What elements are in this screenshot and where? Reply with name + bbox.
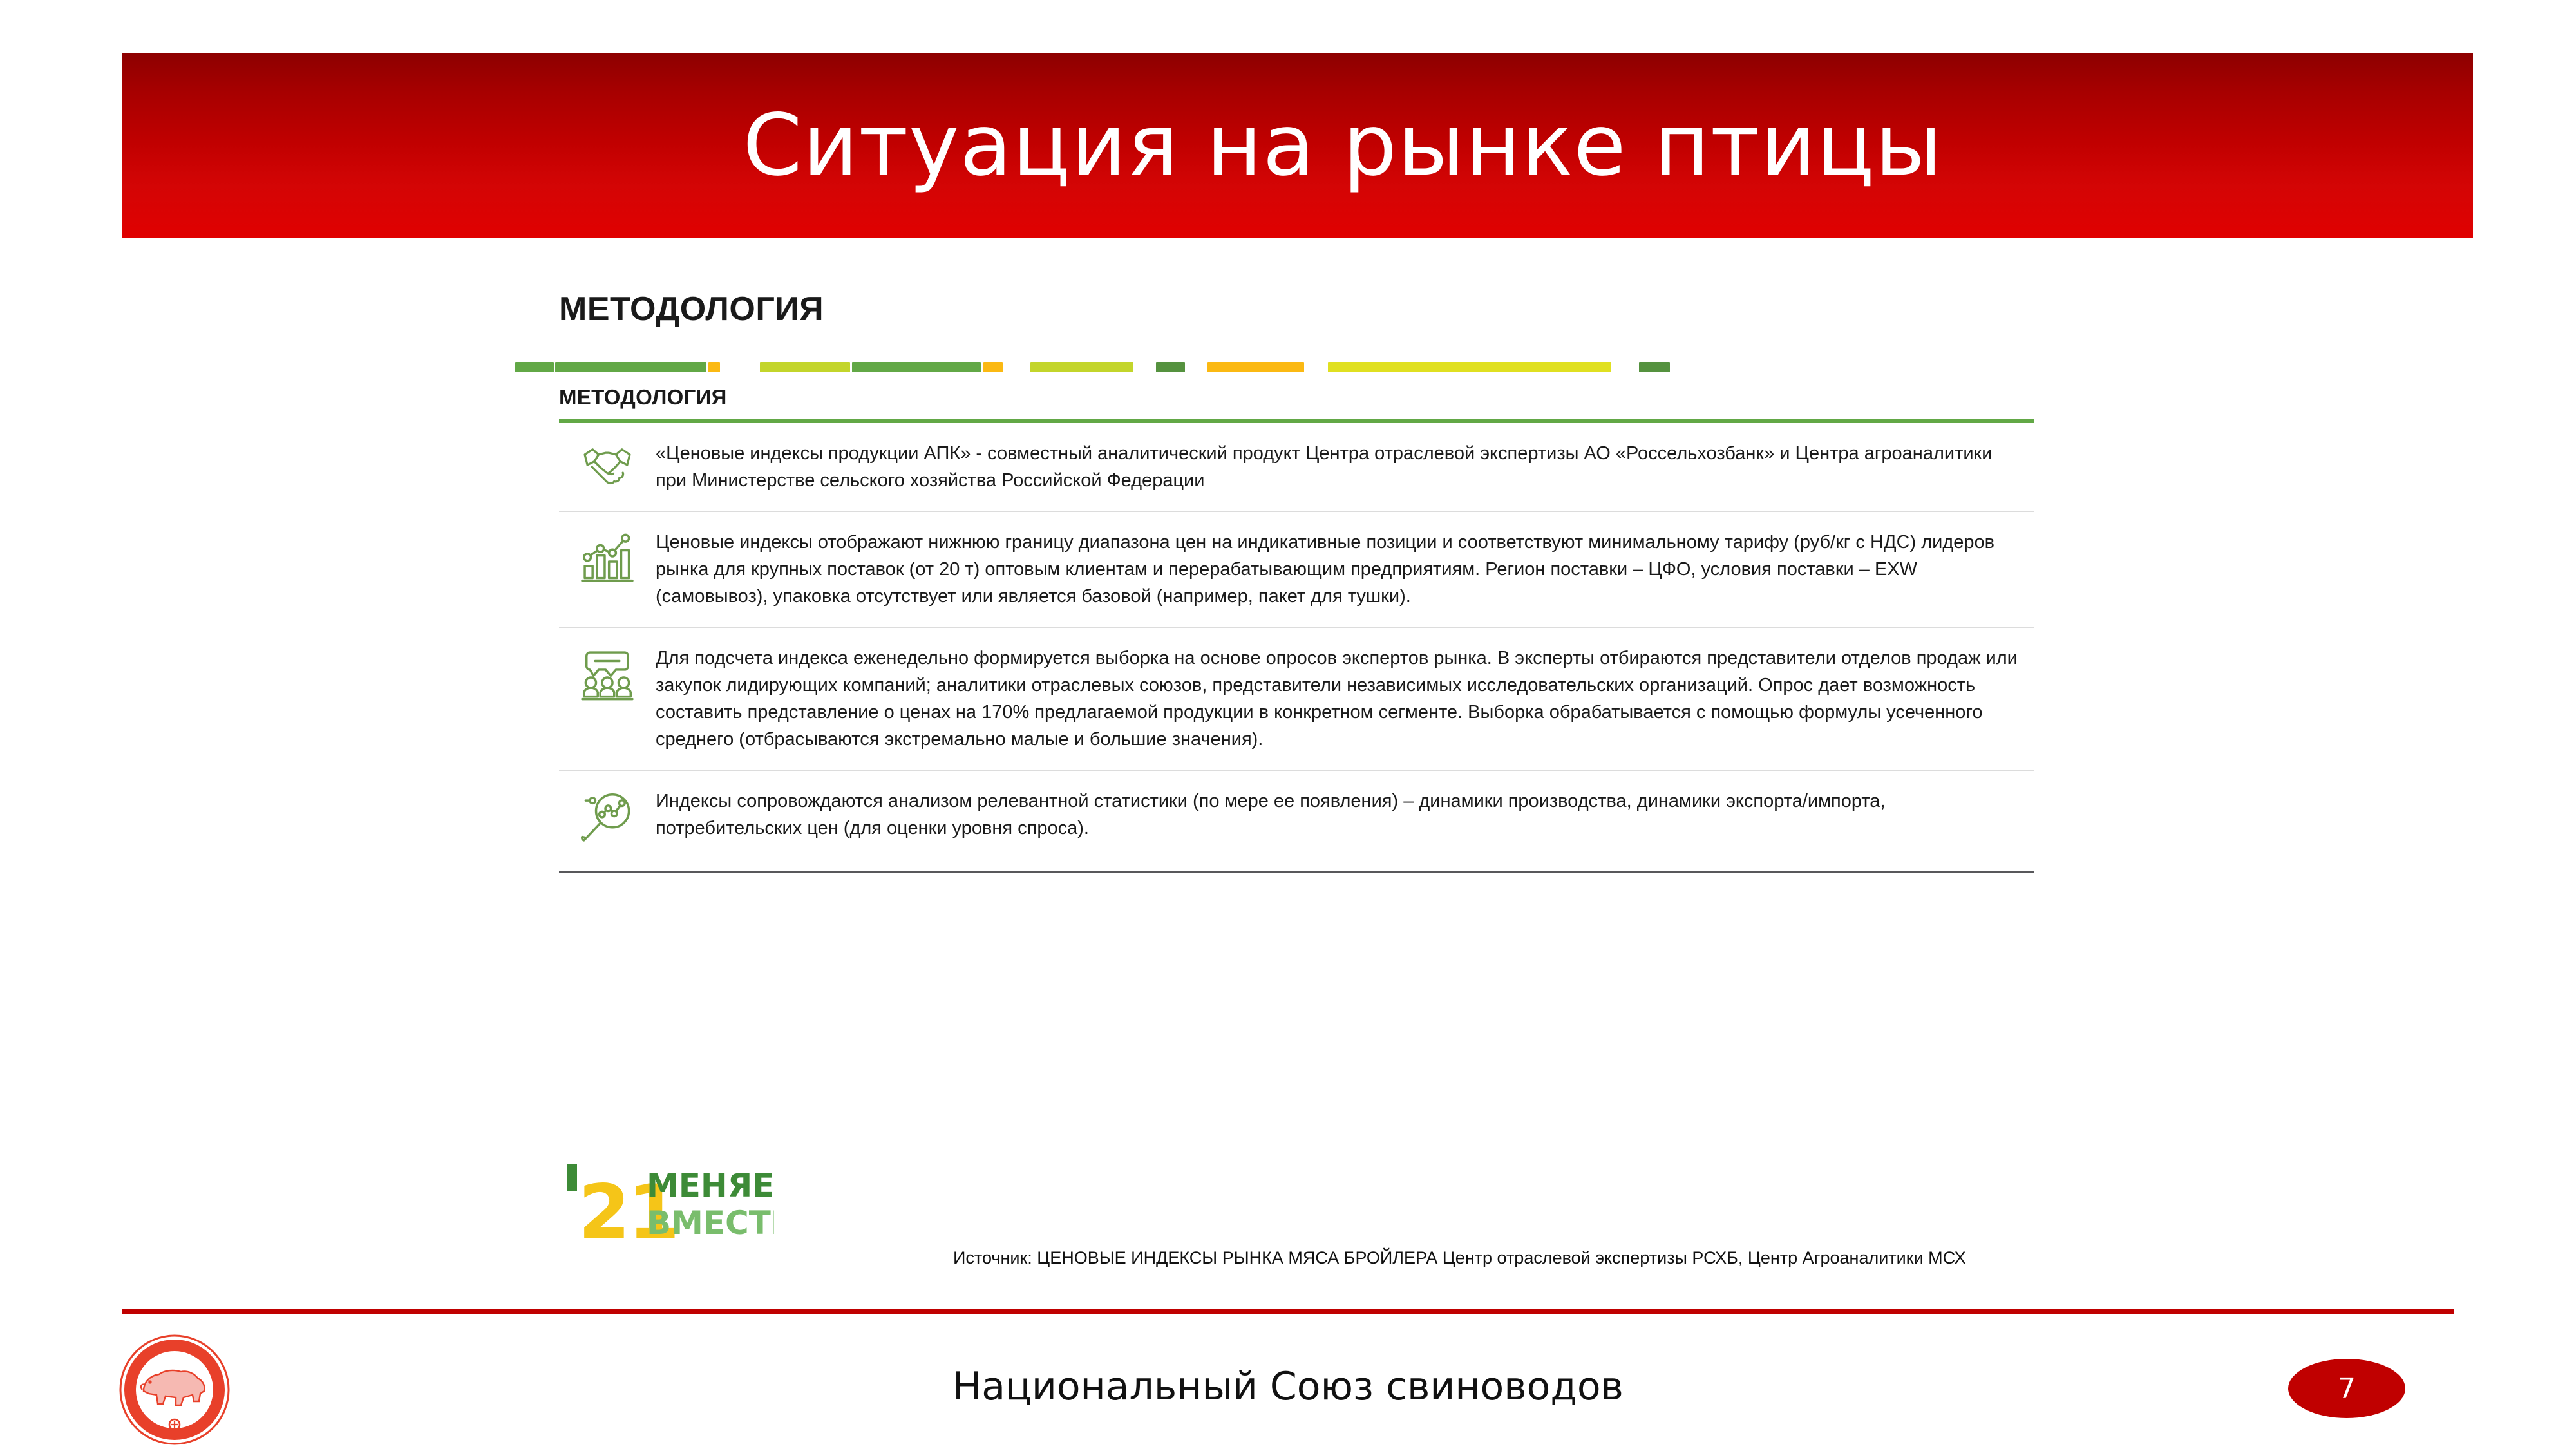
- page-title: Ситуация на рынке птицы: [743, 103, 1942, 188]
- footer-title: Национальный Союз свиноводов: [0, 1364, 2576, 1409]
- methodology-row-text: Для подсчета индекса еженедельно формиру…: [656, 645, 2034, 753]
- segment-6: [1030, 362, 1133, 372]
- segment-10: [1639, 362, 1670, 372]
- segment-0: [515, 362, 554, 372]
- segment-5: [983, 362, 1003, 372]
- page-number: 7: [2338, 1372, 2356, 1405]
- footer-divider: [122, 1309, 2454, 1314]
- segment-1: [555, 362, 706, 372]
- page-number-badge: 7: [2288, 1359, 2405, 1418]
- segment-8: [1207, 362, 1304, 372]
- methodology-row-text: Индексы сопровождаются анализом релевант…: [656, 788, 2034, 842]
- segmented-divider-bar: [515, 362, 2074, 372]
- panel-rule: [559, 419, 2034, 423]
- segment-9: [1328, 362, 1611, 372]
- segment-7: [1156, 362, 1185, 372]
- handshake-icon: [559, 440, 656, 493]
- methodology-panel: МЕТОДОЛОГИЯ «Ц: [559, 385, 2034, 873]
- campaign-logo: 21 МЕНЯЕМСЯ ВМЕСТЕ: [562, 1153, 774, 1246]
- bar-chart-trend-icon: [559, 529, 656, 587]
- methodology-row: «Ценовые индексы продукции АПК» - совмес…: [559, 423, 2034, 512]
- methodology-row: Для подсчета индекса еженедельно формиру…: [559, 628, 2034, 771]
- campaign-logo-line1-text: МЕНЯЕМСЯ: [647, 1167, 774, 1204]
- title-banner: Ситуация на рынке птицы: [122, 53, 2473, 238]
- panel-title: МЕТОДОЛОГИЯ: [559, 385, 2034, 419]
- segment-3: [760, 362, 850, 372]
- segment-2: [708, 362, 720, 372]
- segment-4: [852, 362, 981, 372]
- magnifier-chart-icon: [559, 788, 656, 846]
- slide-root: Ситуация на рынке птицы МЕТОДОЛОГИЯ МЕТО…: [0, 0, 2576, 1449]
- section-heading: МЕТОДОЛОГИЯ: [559, 290, 824, 328]
- methodology-row-text: «Ценовые индексы продукции АПК» - совмес…: [656, 440, 2034, 494]
- methodology-row: Ценовые индексы отображают нижнюю границ…: [559, 512, 2034, 628]
- methodology-row: Индексы сопровождаются анализом релевант…: [559, 771, 2034, 873]
- survey-people-icon: [559, 645, 656, 703]
- source-caption: Источник: ЦЕНОВЫЕ ИНДЕКСЫ РЫНКА МЯСА БРО…: [953, 1248, 1966, 1268]
- methodology-row-text: Ценовые индексы отображают нижнюю границ…: [656, 529, 2034, 610]
- campaign-logo-line2-text: ВМЕСТЕ: [647, 1204, 774, 1242]
